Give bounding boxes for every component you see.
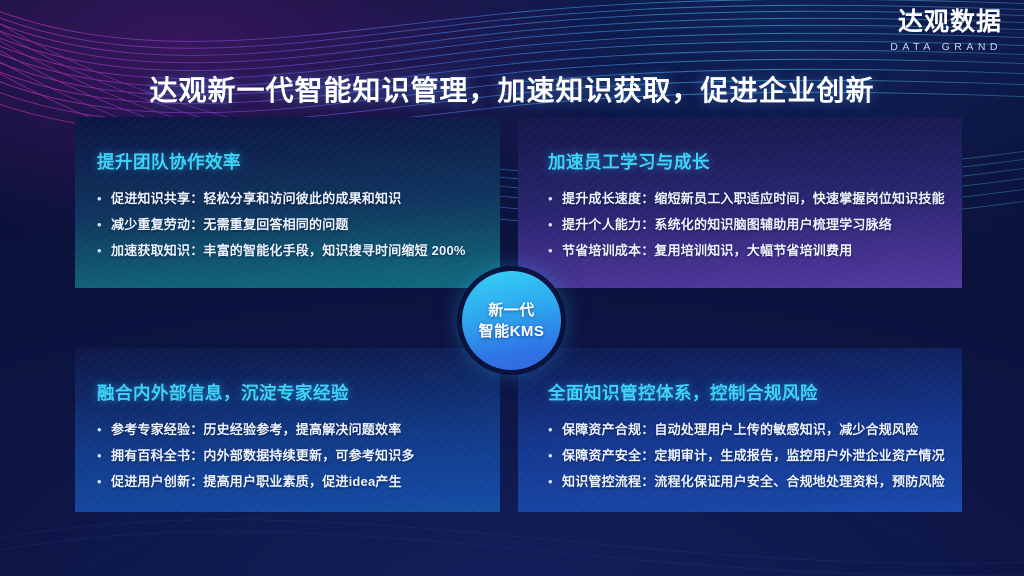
center-badge: 新一代 智能KMS	[462, 271, 561, 370]
bullet-dot-icon: •	[548, 472, 562, 491]
slide-title: 达观新一代智能知识管理，加速知识获取，促进企业创新	[0, 69, 1024, 109]
bullet-dot-icon: •	[97, 241, 111, 260]
brand-logo-cn: 达观数据	[890, 10, 1002, 35]
list-item: • 加速获取知识：丰富的智能化手段，知识搜寻时间缩短 200%	[97, 241, 466, 260]
brand-logo: 达观数据 DATA GRAND	[890, 10, 1002, 53]
bullet-dot-icon: •	[548, 446, 562, 465]
list-item-text: 节省培训成本：复用培训知识，大幅节省培训费用	[562, 241, 852, 260]
bullet-dot-icon: •	[97, 189, 111, 208]
list-item: • 促进用户创新：提高用户职业素质，促进idea产生	[97, 472, 415, 491]
slide-canvas: 达观数据 DATA GRAND 达观新一代智能知识管理，加速知识获取，促进企业创…	[0, 0, 1024, 576]
list-item: • 提升个人能力：系统化的知识脑图辅助用户梳理学习脉络	[548, 215, 945, 234]
list-item-text: 提升成长速度：缩短新员工入职适应时间，快速掌握岗位知识技能	[562, 189, 945, 208]
list-item: • 参考专家经验：历史经验参考，提高解决问题效率	[97, 420, 415, 439]
list-item-text: 促进知识共享：轻松分享和访问彼此的成果和知识	[111, 189, 401, 208]
panel-top-right-heading: 加速员工学习与成长	[548, 149, 710, 174]
panel-top-left: 提升团队协作效率 • 促进知识共享：轻松分享和访问彼此的成果和知识 • 减少重复…	[75, 117, 500, 288]
list-item-text: 提升个人能力：系统化的知识脑图辅助用户梳理学习脉络	[562, 215, 892, 234]
list-item: • 知识管控流程：流程化保证用户安全、合规地处理资料，预防风险	[548, 472, 945, 491]
list-item: • 保障资产安全：定期审计，生成报告，监控用户外泄企业资产情况	[548, 446, 945, 465]
list-item: • 提升成长速度：缩短新员工入职适应时间，快速掌握岗位知识技能	[548, 189, 945, 208]
bullet-dot-icon: •	[548, 420, 562, 439]
bullet-dot-icon: •	[97, 472, 111, 491]
bullet-dot-icon: •	[97, 215, 111, 234]
brand-logo-en: DATA GRAND	[890, 42, 1002, 53]
list-item-text: 拥有百科全书：内外部数据持续更新，可参考知识多	[111, 446, 415, 465]
list-item: • 拥有百科全书：内外部数据持续更新，可参考知识多	[97, 446, 415, 465]
panel-bottom-left-bullets: • 参考专家经验：历史经验参考，提高解决问题效率 • 拥有百科全书：内外部数据持…	[97, 420, 415, 498]
panel-bottom-left-heading: 融合内外部信息，沉淀专家经验	[97, 380, 349, 405]
panel-top-right: 加速员工学习与成长 • 提升成长速度：缩短新员工入职适应时间，快速掌握岗位知识技…	[518, 117, 962, 288]
list-item-text: 减少重复劳动：无需重复回答相同的问题	[111, 215, 349, 234]
bullet-dot-icon: •	[548, 215, 562, 234]
list-item-text: 促进用户创新：提高用户职业素质，促进idea产生	[111, 472, 402, 491]
panel-bottom-right: 全面知识管控体系，控制合规风险 • 保障资产合规：自动处理用户上传的敏感知识，减…	[518, 348, 962, 512]
list-item-text: 加速获取知识：丰富的智能化手段，知识搜寻时间缩短 200%	[111, 241, 466, 260]
list-item-text: 保障资产合规：自动处理用户上传的敏感知识，减少合规风险	[562, 420, 918, 439]
center-badge-line-2: 智能KMS	[479, 321, 545, 342]
list-item: • 促进知识共享：轻松分享和访问彼此的成果和知识	[97, 189, 466, 208]
bullet-dot-icon: •	[97, 446, 111, 465]
panel-top-left-heading: 提升团队协作效率	[97, 149, 241, 174]
panel-top-right-bullets: • 提升成长速度：缩短新员工入职适应时间，快速掌握岗位知识技能 • 提升个人能力…	[548, 189, 945, 267]
bullet-dot-icon: •	[97, 420, 111, 439]
panel-top-left-bullets: • 促进知识共享：轻松分享和访问彼此的成果和知识 • 减少重复劳动：无需重复回答…	[97, 189, 466, 267]
list-item: • 保障资产合规：自动处理用户上传的敏感知识，减少合规风险	[548, 420, 945, 439]
center-badge-line-1: 新一代	[488, 300, 535, 321]
panel-bottom-right-bullets: • 保障资产合规：自动处理用户上传的敏感知识，减少合规风险 • 保障资产安全：定…	[548, 420, 945, 498]
list-item: • 减少重复劳动：无需重复回答相同的问题	[97, 215, 466, 234]
list-item-text: 参考专家经验：历史经验参考，提高解决问题效率	[111, 420, 401, 439]
list-item-text: 保障资产安全：定期审计，生成报告，监控用户外泄企业资产情况	[562, 446, 945, 465]
panel-bottom-right-heading: 全面知识管控体系，控制合规风险	[548, 380, 818, 405]
bullet-dot-icon: •	[548, 189, 562, 208]
panel-bottom-left: 融合内外部信息，沉淀专家经验 • 参考专家经验：历史经验参考，提高解决问题效率 …	[75, 348, 500, 512]
bullet-dot-icon: •	[548, 241, 562, 260]
list-item: • 节省培训成本：复用培训知识，大幅节省培训费用	[548, 241, 945, 260]
list-item-text: 知识管控流程：流程化保证用户安全、合规地处理资料，预防风险	[562, 472, 945, 491]
